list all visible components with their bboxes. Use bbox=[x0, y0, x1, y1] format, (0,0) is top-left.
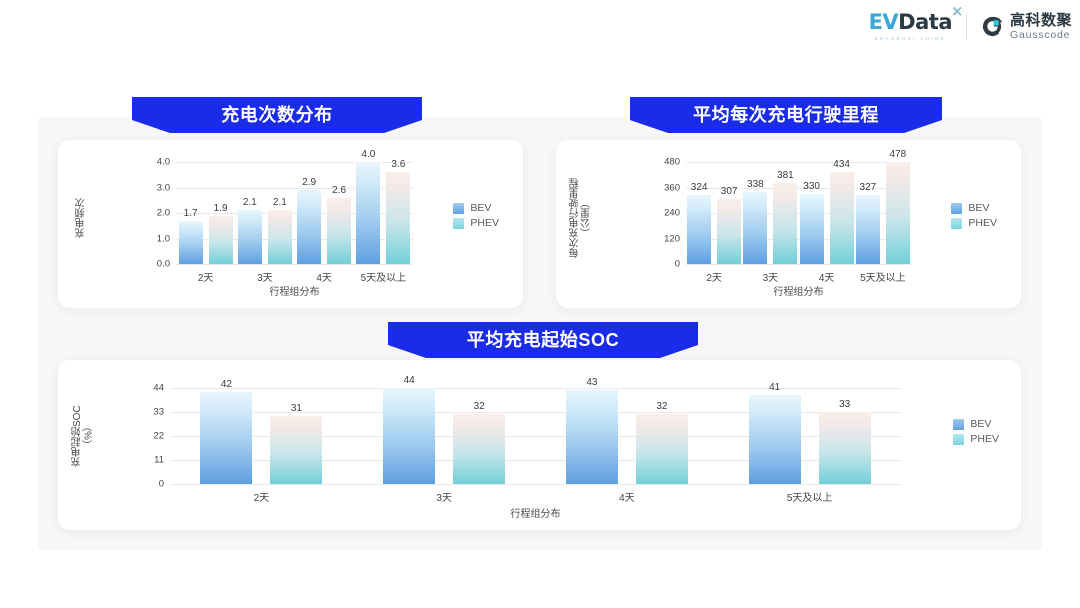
evdata-logo: EVData × SHANGHAI CHINA bbox=[869, 12, 952, 41]
y-axis-tick: 11 bbox=[154, 455, 164, 466]
legend-swatch-icon bbox=[951, 203, 962, 214]
bar-value-label: 330 bbox=[803, 181, 820, 192]
bar-value-label: 478 bbox=[890, 149, 907, 160]
brand-logo-bar: EVData × SHANGHAI CHINA 高科数聚 Gausscode bbox=[869, 12, 1072, 41]
chart-charging-frequency: 充电频次0.01.02.03.04.01.71.92天2.12.13天2.92.… bbox=[58, 140, 523, 308]
bar-group: 2.12.13天 bbox=[235, 162, 294, 264]
gausscode-mark-icon bbox=[981, 15, 1004, 38]
bar-group: 43324天 bbox=[536, 388, 719, 484]
legend-item-bev[interactable]: BEV bbox=[951, 202, 997, 214]
bar-groups: 3243072天3383813天3304344天3274785天及以上 bbox=[686, 162, 911, 264]
chart-title-banner-avg-start-soc: 平均充电起始SOC bbox=[388, 322, 698, 358]
chart-title-banner-avg-range: 平均每次充电行驶里程 bbox=[630, 97, 942, 133]
bar-group: 3274785天及以上 bbox=[855, 162, 911, 264]
plot-area: 0.01.02.03.04.01.71.92天2.12.13天2.92.64天4… bbox=[176, 162, 413, 264]
y-axis-label: 充电起始SOC （%） bbox=[72, 386, 95, 486]
x-axis-tick: 3天 bbox=[257, 269, 273, 284]
legend: BEVPHEV bbox=[953, 418, 999, 445]
plot-area: 01122334442312天44323天43324天41335天及以上 bbox=[170, 388, 901, 484]
x-axis-tick: 3天 bbox=[436, 489, 452, 504]
logo-divider bbox=[966, 14, 967, 40]
gridline: 0 bbox=[686, 264, 911, 265]
chart-title-text: 平均每次充电行驶里程 bbox=[693, 101, 879, 127]
bar-bev[interactable]: 338 bbox=[743, 192, 767, 264]
chart-card-charging-frequency: 充电频次0.01.02.03.04.01.71.92天2.12.13天2.92.… bbox=[58, 140, 523, 308]
gausscode-logo: 高科数聚 Gausscode bbox=[981, 13, 1072, 41]
bar-bev[interactable]: 324 bbox=[687, 195, 711, 264]
bar-bev[interactable]: 330 bbox=[800, 194, 824, 264]
bar-value-label: 41 bbox=[769, 382, 780, 393]
legend-item-bev[interactable]: BEV bbox=[453, 202, 499, 214]
legend-swatch-icon bbox=[953, 419, 964, 430]
legend-label: PHEV bbox=[968, 217, 997, 229]
bar-value-label: 1.9 bbox=[214, 203, 228, 214]
y-axis-tick: 360 bbox=[664, 182, 680, 193]
x-axis-label: 行程组分布 bbox=[176, 283, 413, 298]
x-axis-tick: 4天 bbox=[316, 269, 332, 284]
chart-card-avg-start-soc: 充电起始SOC （%）01122334442312天44323天43324天41… bbox=[58, 360, 1021, 530]
y-axis-tick: 480 bbox=[664, 157, 680, 168]
bar-value-label: 327 bbox=[860, 182, 877, 193]
bar-value-label: 381 bbox=[777, 170, 794, 181]
bar-value-label: 31 bbox=[291, 403, 302, 414]
bar-group: 1.71.92天 bbox=[176, 162, 235, 264]
bar-phev[interactable]: 32 bbox=[453, 414, 505, 484]
legend-item-phev[interactable]: PHEV bbox=[951, 217, 997, 229]
bar-value-label: 43 bbox=[586, 377, 597, 388]
bar-value-label: 44 bbox=[404, 375, 415, 386]
y-axis-tick: 0 bbox=[159, 479, 164, 490]
bar-phev[interactable]: 307 bbox=[717, 199, 741, 264]
bar-group: 3304344天 bbox=[799, 162, 855, 264]
legend-label: BEV bbox=[970, 418, 991, 430]
bar-value-label: 42 bbox=[221, 379, 232, 390]
bar-value-label: 324 bbox=[691, 182, 708, 193]
evdata-x-icon: × bbox=[951, 4, 963, 19]
bar-groups: 1.71.92天2.12.13天2.92.64天4.03.65天及以上 bbox=[176, 162, 413, 264]
bar-bev[interactable]: 1.7 bbox=[179, 221, 203, 264]
legend: BEVPHEV bbox=[453, 202, 499, 229]
gridline: 0.0 bbox=[176, 264, 413, 265]
bar-value-label: 3.6 bbox=[391, 159, 405, 170]
x-axis-tick: 5天及以上 bbox=[787, 489, 833, 504]
y-axis-tick: 240 bbox=[664, 208, 680, 219]
legend-swatch-icon bbox=[453, 203, 464, 214]
chart-avg-range-per-charge: 每次充电行驶里程 （公里）01202403604803243072天338381… bbox=[556, 140, 1021, 308]
bar-phev[interactable]: 3.6 bbox=[386, 172, 410, 264]
y-axis-tick: 0.0 bbox=[157, 259, 170, 270]
y-axis-label: 充电频次 bbox=[76, 168, 88, 268]
y-axis-tick: 33 bbox=[153, 407, 164, 418]
x-axis-label: 行程组分布 bbox=[686, 283, 911, 298]
bar-value-label: 1.7 bbox=[184, 208, 198, 219]
gausscode-en-text: Gausscode bbox=[1010, 30, 1072, 41]
bar-phev[interactable]: 31 bbox=[270, 416, 322, 484]
evdata-wordmark: EVData × bbox=[869, 12, 952, 33]
bar-bev[interactable]: 327 bbox=[856, 195, 880, 264]
x-axis-tick: 2天 bbox=[254, 489, 270, 504]
x-axis-tick: 4天 bbox=[619, 489, 635, 504]
bar-group: 2.92.64天 bbox=[295, 162, 354, 264]
y-axis-tick: 22 bbox=[153, 431, 164, 442]
legend-item-phev[interactable]: PHEV bbox=[953, 433, 999, 445]
bar-group: 44323天 bbox=[353, 388, 536, 484]
bar-group: 41335天及以上 bbox=[718, 388, 901, 484]
bar-phev[interactable]: 2.6 bbox=[327, 198, 351, 264]
y-axis-label: 每次充电行驶里程 （公里） bbox=[570, 158, 593, 278]
legend-swatch-icon bbox=[953, 434, 964, 445]
legend-item-phev[interactable]: PHEV bbox=[453, 217, 499, 229]
bar-bev[interactable]: 42 bbox=[200, 392, 252, 484]
x-axis-tick: 5天及以上 bbox=[361, 269, 407, 284]
x-axis-tick: 4天 bbox=[819, 269, 835, 284]
y-axis-tick: 3.0 bbox=[157, 182, 170, 193]
y-axis-tick: 2.0 bbox=[157, 208, 170, 219]
bar-phev[interactable]: 2.1 bbox=[268, 210, 292, 264]
bar-groups: 42312天44323天43324天41335天及以上 bbox=[170, 388, 901, 484]
bar-phev[interactable]: 434 bbox=[830, 172, 854, 264]
x-axis-tick: 5天及以上 bbox=[860, 269, 906, 284]
chart-title-text: 充电次数分布 bbox=[221, 101, 333, 127]
x-axis-tick: 2天 bbox=[706, 269, 722, 284]
x-axis-tick: 2天 bbox=[198, 269, 214, 284]
bar-phev[interactable]: 1.9 bbox=[209, 216, 233, 264]
bar-value-label: 2.6 bbox=[332, 185, 346, 196]
legend: BEVPHEV bbox=[951, 202, 997, 229]
evdata-data-text: Data bbox=[898, 10, 952, 34]
x-axis-tick: 3天 bbox=[763, 269, 779, 284]
bar-group: 4.03.65天及以上 bbox=[354, 162, 413, 264]
bar-value-label: 32 bbox=[656, 401, 667, 412]
legend-label: BEV bbox=[968, 202, 989, 214]
legend-swatch-icon bbox=[453, 218, 464, 229]
chart-title-banner-charging-frequency: 充电次数分布 bbox=[132, 97, 422, 133]
legend-label: PHEV bbox=[470, 217, 499, 229]
chart-avg-start-soc: 充电起始SOC （%）01122334442312天44323天43324天41… bbox=[58, 360, 1021, 530]
bar-value-label: 307 bbox=[721, 186, 738, 197]
bar-group: 3383813天 bbox=[742, 162, 798, 264]
bar-bev[interactable]: 41 bbox=[749, 395, 801, 484]
bar-value-label: 4.0 bbox=[361, 149, 375, 160]
bar-value-label: 32 bbox=[474, 401, 485, 412]
evdata-ev-text: EV bbox=[869, 10, 899, 34]
legend-label: BEV bbox=[470, 202, 491, 214]
evdata-subtitle: SHANGHAI CHINA bbox=[875, 36, 946, 41]
bar-phev[interactable]: 478 bbox=[886, 162, 910, 264]
bar-bev[interactable]: 43 bbox=[566, 390, 618, 484]
slide-root: EVData × SHANGHAI CHINA 高科数聚 Gausscode 充… bbox=[0, 0, 1080, 608]
x-axis-label: 行程组分布 bbox=[170, 505, 901, 520]
bar-value-label: 2.9 bbox=[302, 177, 316, 188]
y-axis-tick: 1.0 bbox=[157, 233, 170, 244]
gridline: 0 bbox=[170, 484, 901, 485]
bar-bev[interactable]: 2.1 bbox=[238, 210, 262, 264]
y-axis-tick: 120 bbox=[664, 233, 680, 244]
chart-card-avg-range: 每次充电行驶里程 （公里）01202403604803243072天338381… bbox=[556, 140, 1021, 308]
bar-group: 3243072天 bbox=[686, 162, 742, 264]
bar-value-label: 33 bbox=[839, 399, 850, 410]
bar-value-label: 338 bbox=[747, 179, 764, 190]
chart-title-text: 平均充电起始SOC bbox=[467, 326, 619, 352]
bar-phev[interactable]: 33 bbox=[819, 412, 871, 484]
gausscode-wordmark: 高科数聚 Gausscode bbox=[1010, 13, 1072, 41]
y-axis-tick: 0 bbox=[675, 259, 680, 270]
legend-item-bev[interactable]: BEV bbox=[953, 418, 999, 430]
bar-bev[interactable]: 44 bbox=[383, 388, 435, 484]
plot-area: 01202403604803243072天3383813天3304344天327… bbox=[686, 162, 911, 264]
bar-bev[interactable]: 4.0 bbox=[356, 162, 380, 264]
bar-bev[interactable]: 2.9 bbox=[297, 190, 321, 264]
bar-value-label: 434 bbox=[833, 159, 850, 170]
bar-phev[interactable]: 381 bbox=[773, 183, 797, 264]
bar-value-label: 2.1 bbox=[243, 197, 257, 208]
bar-value-label: 2.1 bbox=[273, 197, 287, 208]
bar-group: 42312天 bbox=[170, 388, 353, 484]
legend-swatch-icon bbox=[951, 218, 962, 229]
y-axis-tick: 44 bbox=[153, 383, 164, 394]
legend-label: PHEV bbox=[970, 433, 999, 445]
gausscode-cn-text: 高科数聚 bbox=[1010, 13, 1072, 28]
bar-phev[interactable]: 32 bbox=[636, 414, 688, 484]
y-axis-tick: 4.0 bbox=[157, 157, 170, 168]
